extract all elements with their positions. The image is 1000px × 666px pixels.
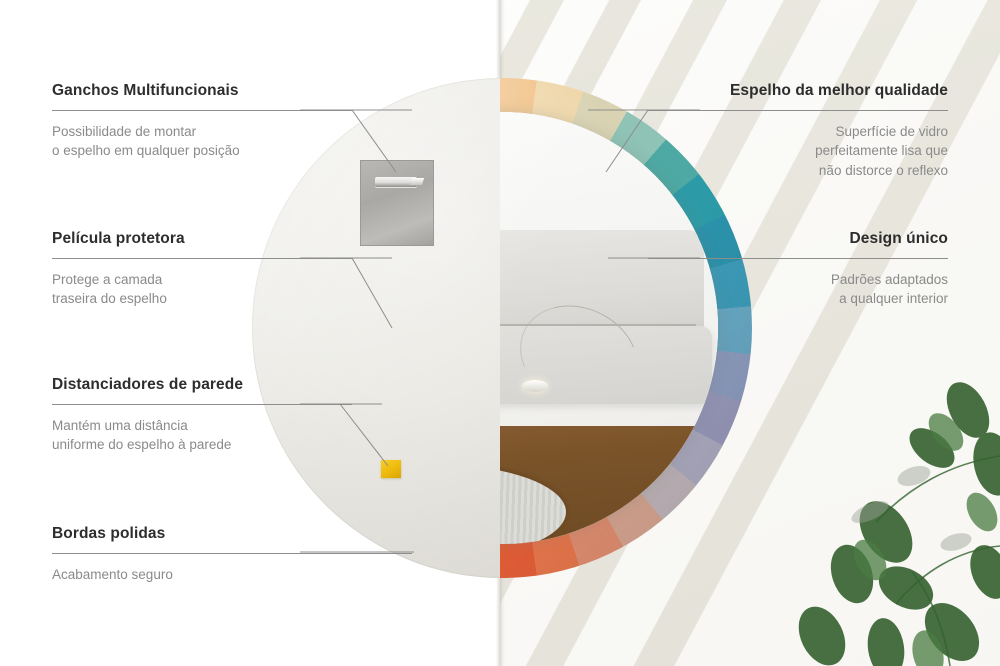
callout-description: Protege a camada traseira do espelho — [52, 270, 352, 309]
callout-distanciadores: Distanciadores de parede Mantém uma dist… — [52, 376, 352, 455]
hook-slot-icon — [375, 177, 417, 187]
callout-title: Película protetora — [52, 230, 352, 249]
callout-description: Possibilidade de montar o espelho em qua… — [52, 122, 352, 161]
hook-plate — [360, 160, 434, 246]
callout-rule — [648, 110, 948, 111]
callout-description: Superfície de vidro perfeitamente lisa q… — [648, 122, 948, 181]
callout-rule — [52, 553, 412, 554]
callout-rule — [52, 110, 352, 111]
callout-description: Padrões adaptados a qualquer interior — [648, 270, 948, 309]
infographic-canvas: Ganchos Multifuncionais Possibilidade de… — [0, 0, 1000, 666]
callout-description: Mantém uma distância uniforme do espelho… — [52, 416, 352, 455]
callout-rule — [648, 258, 948, 259]
callout-ganchos: Ganchos Multifuncionais Possibilidade de… — [52, 82, 352, 161]
callout-title: Bordas polidas — [52, 525, 412, 544]
callout-title: Design único — [648, 230, 948, 249]
yellow-spacer — [381, 460, 401, 478]
callout-design: Design único Padrões adaptados a qualque… — [648, 230, 948, 309]
reflected-lamp-bulb — [522, 380, 548, 392]
callout-qualidade: Espelho da melhor qualidade Superfície d… — [648, 82, 948, 180]
callout-description: Acabamento seguro — [52, 565, 412, 585]
callout-title: Ganchos Multifuncionais — [52, 82, 352, 101]
callout-rule — [52, 404, 352, 405]
callout-rule — [52, 258, 352, 259]
callout-title: Distanciadores de parede — [52, 376, 352, 395]
callout-pelicula: Película protetora Protege a camada tras… — [52, 230, 352, 309]
callout-bordas: Bordas polidas Acabamento seguro — [52, 525, 412, 584]
callout-title: Espelho da melhor qualidade — [648, 82, 948, 101]
